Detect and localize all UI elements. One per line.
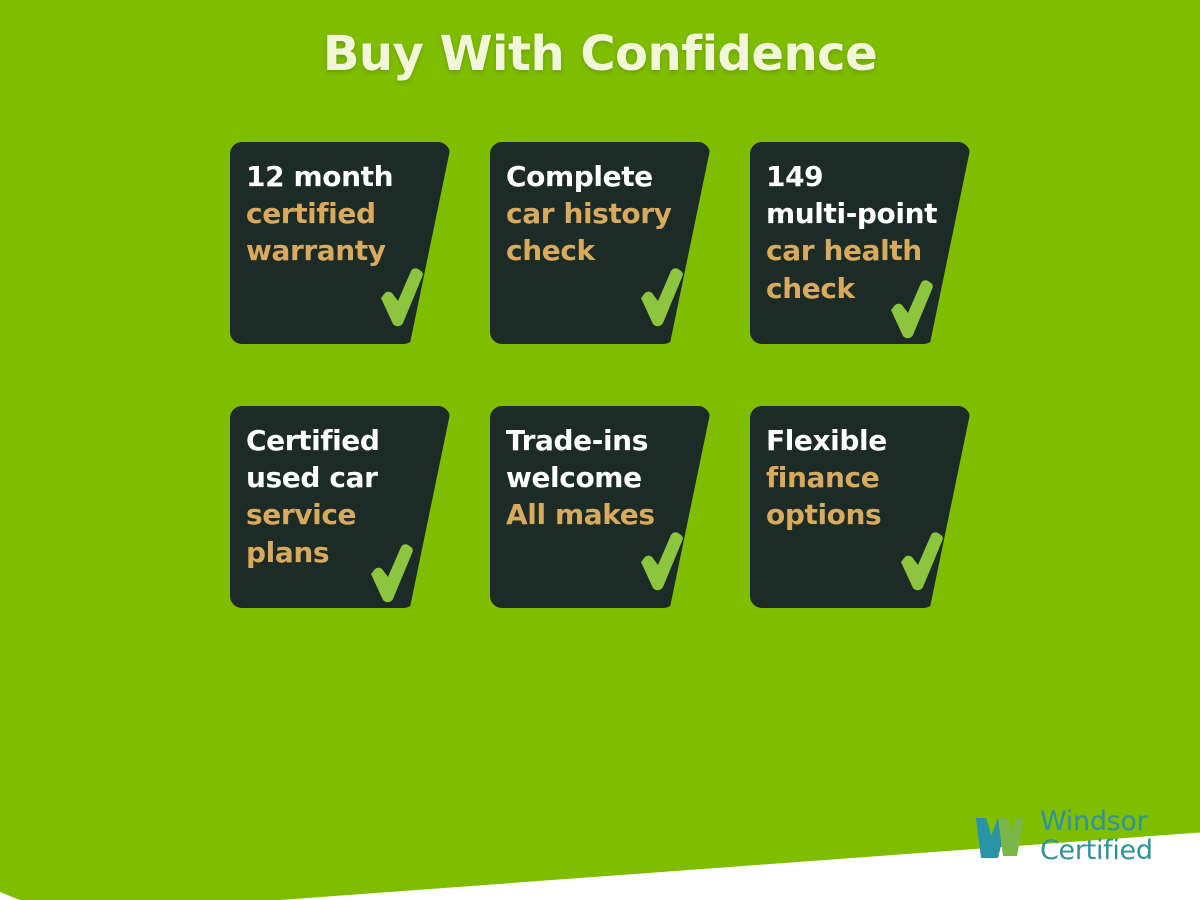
benefit-card-service-plans[interactable]: Certifiedused carserviceplans xyxy=(228,404,452,610)
card-primary-line: welcome xyxy=(506,459,696,496)
card-primary-line: Complete xyxy=(506,158,696,195)
card-primary-line: Trade-ins xyxy=(506,422,696,459)
benefit-card-row-1: 12 monthcertifiedwarrantyCompletecar his… xyxy=(228,140,988,346)
card-accent-line: check xyxy=(506,232,696,269)
card-primary-line: multi-point xyxy=(766,195,956,232)
check-icon xyxy=(638,532,684,592)
card-accent-line: warranty xyxy=(246,232,436,269)
card-text: Flexiblefinanceoptions xyxy=(766,422,956,534)
card-primary-line: 12 month xyxy=(246,158,436,195)
infographic-canvas: Buy With Confidence 12 monthcertifiedwar… xyxy=(0,0,1200,900)
benefit-card-grid: 12 monthcertifiedwarrantyCompletecar his… xyxy=(228,140,988,610)
check-icon xyxy=(378,268,424,328)
card-primary-line: Flexible xyxy=(766,422,956,459)
green-right-fill xyxy=(1000,0,1200,560)
check-icon xyxy=(888,280,934,340)
check-icon xyxy=(638,268,684,328)
card-text: Trade-inswelcomeAll makes xyxy=(506,422,696,534)
card-primary-line: Certified xyxy=(246,422,436,459)
benefit-card-trade-ins[interactable]: Trade-inswelcomeAll makes xyxy=(488,404,712,610)
check-icon xyxy=(368,544,414,604)
card-accent-line: car history xyxy=(506,195,696,232)
card-text: Completecar historycheck xyxy=(506,158,696,270)
logo-line-1: Windsor xyxy=(1040,808,1153,837)
card-primary-line: 149 xyxy=(766,158,956,195)
windsor-w-icon xyxy=(968,806,1030,868)
card-accent-line: car health xyxy=(766,232,956,269)
green-left-fill xyxy=(0,0,140,640)
benefit-card-row-2: Certifiedused carserviceplansTrade-inswe… xyxy=(228,404,988,610)
logo-line-2: Certified xyxy=(1040,837,1153,866)
card-accent-line: options xyxy=(766,496,956,533)
card-primary-line: used car xyxy=(246,459,436,496)
benefit-card-finance-options[interactable]: Flexiblefinanceoptions xyxy=(748,404,972,610)
logo-wordmark: Windsor Certified xyxy=(1040,808,1153,865)
benefit-card-certified-warranty[interactable]: 12 monthcertifiedwarranty xyxy=(228,140,452,346)
windsor-certified-logo[interactable]: Windsor Certified xyxy=(968,806,1153,868)
card-accent-line: All makes xyxy=(506,496,696,533)
benefit-card-car-health-check[interactable]: 149multi-pointcar healthcheck xyxy=(748,140,972,346)
benefit-card-car-history-check[interactable]: Completecar historycheck xyxy=(488,140,712,346)
card-text: 12 monthcertifiedwarranty xyxy=(246,158,436,270)
page-title: Buy With Confidence xyxy=(0,26,1200,82)
card-accent-line: finance xyxy=(766,459,956,496)
check-icon xyxy=(898,532,944,592)
card-accent-line: certified xyxy=(246,195,436,232)
card-accent-line: service xyxy=(246,496,436,533)
